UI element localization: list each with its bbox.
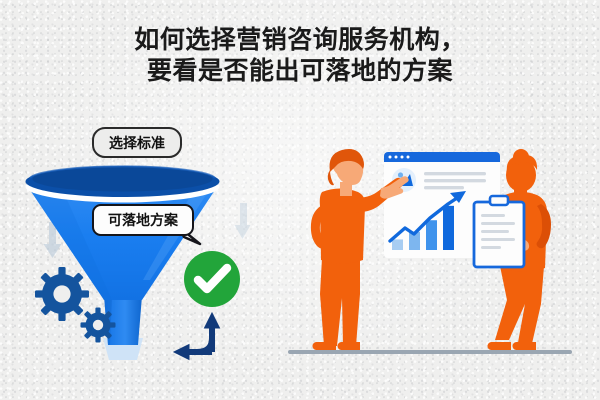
illustration-canvas: 如何选择营销咨询服务机构， 要看是否能出可落地的方案 [0,0,600,400]
clipboard-clip [490,196,508,205]
person-left-legs [320,258,360,346]
person-right-legs [495,266,544,348]
title-line-2: 要看是否能出可落地的方案 [0,55,600,86]
page-title: 如何选择营销咨询服务机构， 要看是否能出可落地的方案 [0,24,600,86]
ground-line [288,350,572,354]
label-actionable-solution-text: 可落地方案 [108,210,178,230]
label-actionable-solution: 可落地方案 [92,204,194,236]
title-line-1: 如何选择营销咨询服务机构， [0,24,600,55]
label-selection-criteria-text: 选择标准 [109,133,165,153]
clipboard-board [474,202,524,267]
label-selection-criteria: 选择标准 [92,127,182,158]
clipboard [474,196,524,267]
